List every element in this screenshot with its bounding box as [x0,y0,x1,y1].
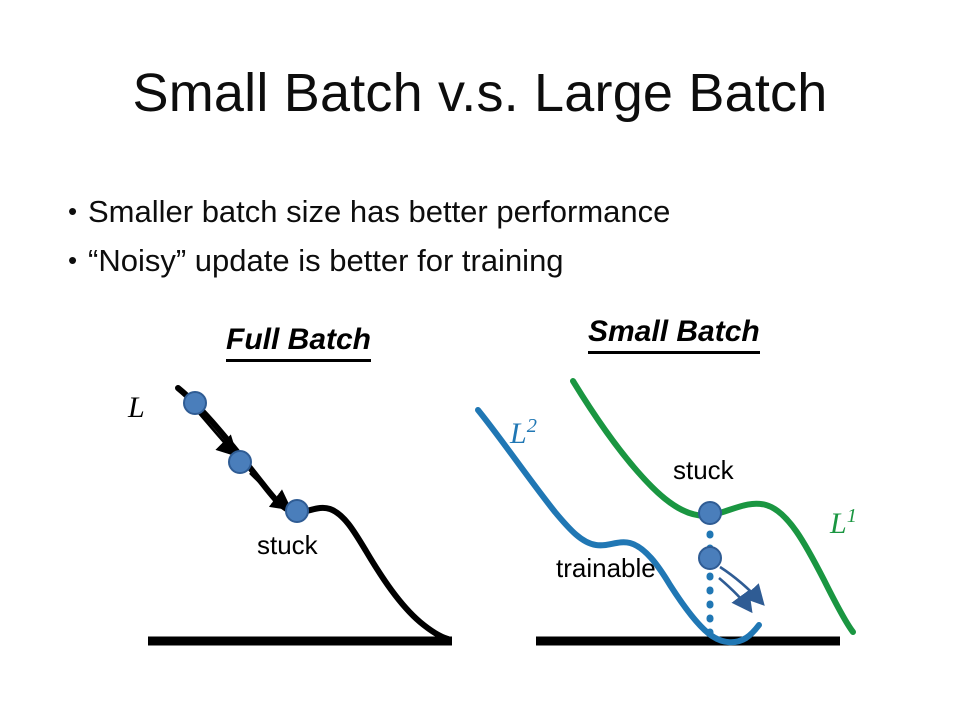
bullet-text: Smaller batch size has better performanc… [88,194,670,229]
page-title: Small Batch v.s. Large Batch [0,62,960,124]
right-curve-label-L2-base: L [510,417,527,450]
right-curve-label-L2: L2 [510,415,537,451]
full-batch-heading: Full Batch [226,323,371,362]
right-escape-arrow-2 [719,578,751,611]
right-escape-arrow-1 [720,567,763,604]
right-ball-trainable [699,547,721,569]
right-annotation-stuck: stuck [673,455,734,486]
left-ball-3 [286,500,308,522]
right-ball-stuck [699,502,721,524]
bullet-text: “Noisy” update is better for training [88,243,564,278]
bullet-item-2: •“Noisy” update is better for training [68,243,564,279]
left-ball-2 [229,451,251,473]
left-gradient-arrow-1 [198,412,236,455]
bullet-marker: • [68,245,88,276]
small-batch-heading: Small Batch [588,315,760,354]
left-curve-label-L: L [128,391,145,425]
right-annotation-trainable: trainable [556,553,656,584]
left-ball-1 [184,392,206,414]
bullet-marker: • [68,196,88,227]
slide-canvas: Small Batch v.s. Large Batch •Smaller ba… [0,0,960,720]
right-curve-label-L1-sup: 1 [847,505,857,527]
right-curve-label-L2-sup: 2 [527,415,537,437]
left-annotation-stuck: stuck [257,530,318,561]
right-curve-label-L1-base: L [830,507,847,540]
right-green-curve [573,381,853,632]
left-loss-curve [178,388,448,639]
bullet-item-1: •Smaller batch size has better performan… [68,194,670,230]
left-gradient-arrow-2 [250,473,290,509]
right-curve-label-L1: L1 [830,505,857,541]
